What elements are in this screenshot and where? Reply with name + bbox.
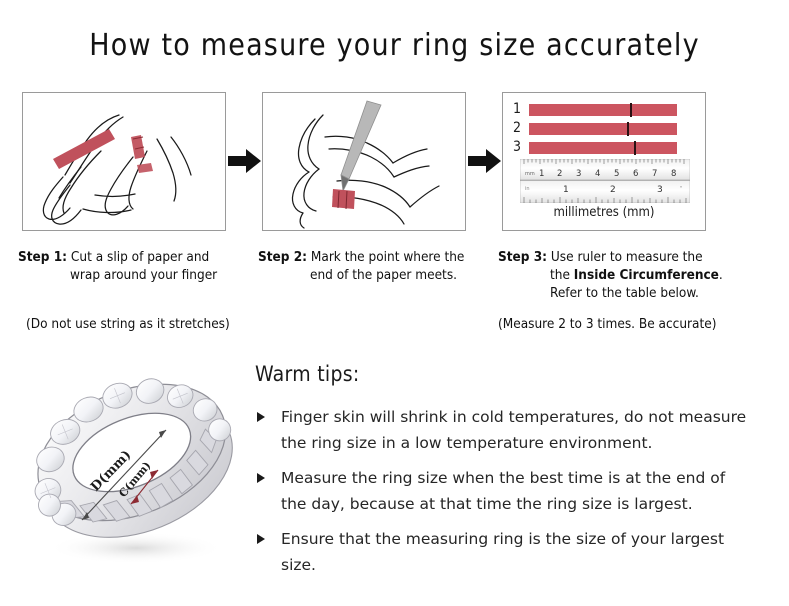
svg-text:3: 3 bbox=[657, 185, 663, 195]
warm-tips-heading: Warm tips: bbox=[255, 362, 775, 386]
svg-text:in: in bbox=[525, 186, 530, 192]
svg-text:2: 2 bbox=[610, 185, 616, 195]
svg-text:2: 2 bbox=[557, 169, 562, 179]
measured-strip-row-1: 1 bbox=[513, 103, 677, 116]
svg-text:8: 8 bbox=[671, 169, 676, 179]
page-title: How to measure your ring size accurately bbox=[0, 28, 789, 63]
step-1-line2: wrap around your finger bbox=[18, 266, 254, 284]
triangle-bullet-icon bbox=[257, 534, 265, 544]
warm-tip-item-1: Finger skin will shrink in cold temperat… bbox=[255, 404, 751, 456]
step-2-line1: Mark the point where the bbox=[311, 249, 465, 265]
warm-tip-text-2: Measure the ring size when the best time… bbox=[281, 469, 725, 513]
svg-text:6: 6 bbox=[633, 169, 638, 179]
svg-text:": " bbox=[680, 186, 682, 192]
ruler-graphic: 123 456 78 mm 123 in " bbox=[520, 159, 690, 203]
strip-mark-3 bbox=[634, 141, 636, 155]
step-3-line3: Refer to the table below. bbox=[498, 284, 770, 302]
warm-tips-section: Warm tips: Finger skin will shrink in co… bbox=[255, 362, 775, 587]
step-3-caption: Step 3: Use ruler to measure the the Ins… bbox=[498, 248, 770, 302]
hand-with-paper-strip-icon bbox=[23, 93, 225, 230]
strip-mark-1 bbox=[630, 103, 632, 117]
measured-strip-row-2: 2 bbox=[513, 122, 677, 135]
step-3-note: (Measure 2 to 3 times. Be accurate) bbox=[498, 316, 716, 332]
ring-diagram: D(mm) C(mm) bbox=[18, 352, 250, 582]
strip-number-3: 3 bbox=[513, 141, 529, 154]
step-1-caption: Step 1: Cut a slip of paper and wrap aro… bbox=[18, 248, 254, 284]
warm-tip-text-1: Finger skin will shrink in cold temperat… bbox=[281, 408, 746, 452]
svg-text:5: 5 bbox=[614, 169, 619, 179]
svg-text:3: 3 bbox=[576, 169, 581, 179]
step-1-illustration-panel bbox=[22, 92, 226, 231]
strip-mark-2 bbox=[627, 122, 629, 136]
step-captions-row: Step 1: Cut a slip of paper and wrap aro… bbox=[0, 248, 789, 348]
svg-text:1: 1 bbox=[539, 169, 544, 179]
step-3-illustration-panel: 1 2 3 bbox=[502, 92, 706, 231]
hand-marking-paper-with-pen-icon bbox=[263, 93, 465, 230]
step-1-note: (Do not use string as it stretches) bbox=[26, 316, 230, 332]
svg-text:1: 1 bbox=[563, 185, 569, 195]
step-2-illustration-panel bbox=[262, 92, 466, 231]
step-3-label: Step 3: bbox=[498, 249, 547, 265]
triangle-bullet-icon bbox=[257, 412, 265, 422]
paper-strip-3 bbox=[529, 142, 677, 154]
step-1-label: Step 1: bbox=[18, 249, 67, 265]
step-1-line1: Cut a slip of paper and bbox=[71, 249, 209, 265]
strip-number-2: 2 bbox=[513, 122, 529, 135]
svg-text:7: 7 bbox=[652, 169, 657, 179]
step-3-line2: the Inside Circumference. bbox=[498, 266, 770, 284]
warm-tip-item-2: Measure the ring size when the best time… bbox=[255, 465, 751, 517]
inside-circumference-emphasis: Inside Circumference bbox=[574, 267, 719, 283]
arrow-step1-to-step2-icon bbox=[228, 148, 262, 174]
steps-illustration-row: 1 2 3 bbox=[0, 92, 789, 232]
paper-strip-1 bbox=[529, 104, 677, 116]
step-2-label: Step 2: bbox=[258, 249, 307, 265]
strip-number-1: 1 bbox=[513, 103, 529, 116]
ring-photo-illustration: D(mm) C(mm) bbox=[18, 352, 250, 582]
step-3-line2-prefix: the bbox=[550, 267, 574, 283]
paper-strip-2 bbox=[529, 123, 677, 135]
step-3-line1: Use ruler to measure the bbox=[551, 249, 703, 265]
measured-strip-row-3: 3 bbox=[513, 141, 677, 154]
step-3-line2-suffix: . bbox=[719, 267, 723, 283]
warm-tip-text-3: Ensure that the measuring ring is the si… bbox=[281, 530, 724, 574]
warm-tip-item-3: Ensure that the measuring ring is the si… bbox=[255, 526, 751, 578]
arrow-step2-to-step3-icon bbox=[468, 148, 502, 174]
step-2-caption: Step 2: Mark the point where the end of … bbox=[258, 248, 494, 284]
svg-text:mm: mm bbox=[525, 171, 535, 177]
step-2-line2: end of the paper meets. bbox=[258, 266, 494, 284]
ruler-unit-label: millimetres (mm) bbox=[503, 205, 705, 220]
triangle-bullet-icon bbox=[257, 473, 265, 483]
svg-text:4: 4 bbox=[595, 169, 600, 179]
ring-size-guide-page: How to measure your ring size accurately bbox=[0, 0, 789, 606]
